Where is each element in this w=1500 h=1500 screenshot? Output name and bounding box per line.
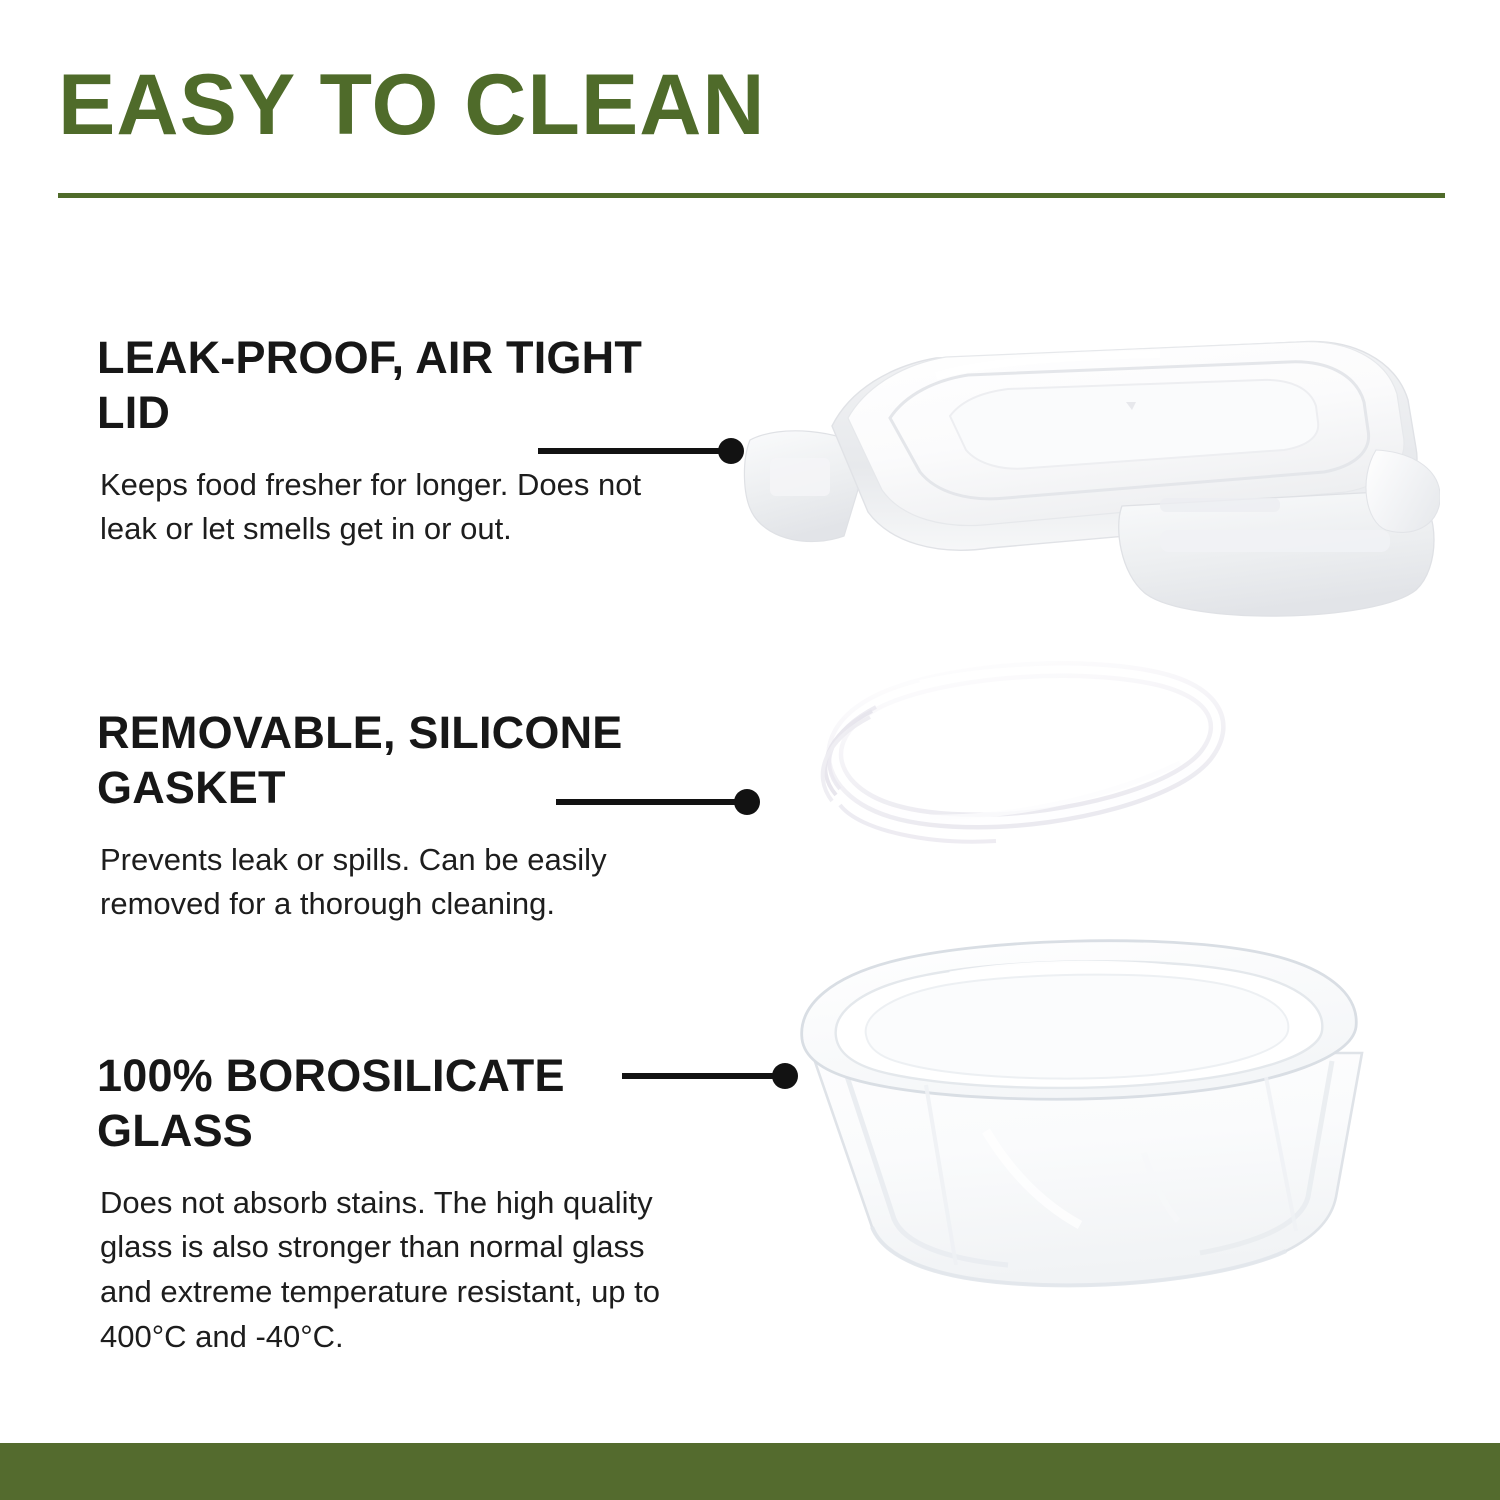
feature-block-borosilicate-glass: 100% BOROSILICATE GLASS Does not absorb … — [97, 1048, 697, 1359]
leader-line-lid — [538, 448, 728, 454]
page-title: EASY TO CLEAN — [58, 62, 766, 148]
feature-body-removable-silicone-gasket: Prevents leak or spills. Can be easily r… — [100, 838, 697, 927]
feature-body-leak-proof-air-tight-lid: Keeps food fresher for longer. Does not … — [100, 463, 697, 552]
feature-title-borosilicate-glass: 100% BOROSILICATE GLASS — [97, 1048, 697, 1159]
lid-right-snap-tab — [1366, 450, 1440, 532]
feature-body-borosilicate-glass: Does not absorb stains. The high quality… — [100, 1181, 697, 1360]
footer-color-band — [0, 1443, 1500, 1500]
leader-line-gasket — [556, 799, 744, 805]
plastic-lid-image — [740, 330, 1440, 650]
feature-title-leak-proof-air-tight-lid: LEAK-PROOF, AIR TIGHT LID — [97, 330, 697, 441]
glass-container-image — [780, 935, 1400, 1315]
infographic-page: EASY TO CLEAN LEAK-PROOF, AIR TIGHT LID … — [0, 0, 1500, 1500]
feature-block-leak-proof-air-tight-lid: LEAK-PROOF, AIR TIGHT LID Keeps food fre… — [97, 330, 697, 552]
gasket-ring — [835, 670, 1217, 821]
feature-block-removable-silicone-gasket: REMOVABLE, SILICONE GASKET Prevents leak… — [97, 705, 697, 927]
glass-interior-opening — [866, 975, 1289, 1079]
silicone-gasket-image — [780, 655, 1250, 915]
leader-line-glass — [622, 1073, 782, 1079]
lid-front-tab-ridge — [1160, 530, 1390, 552]
leader-dot-gasket — [734, 789, 760, 815]
header-divider — [58, 193, 1445, 198]
